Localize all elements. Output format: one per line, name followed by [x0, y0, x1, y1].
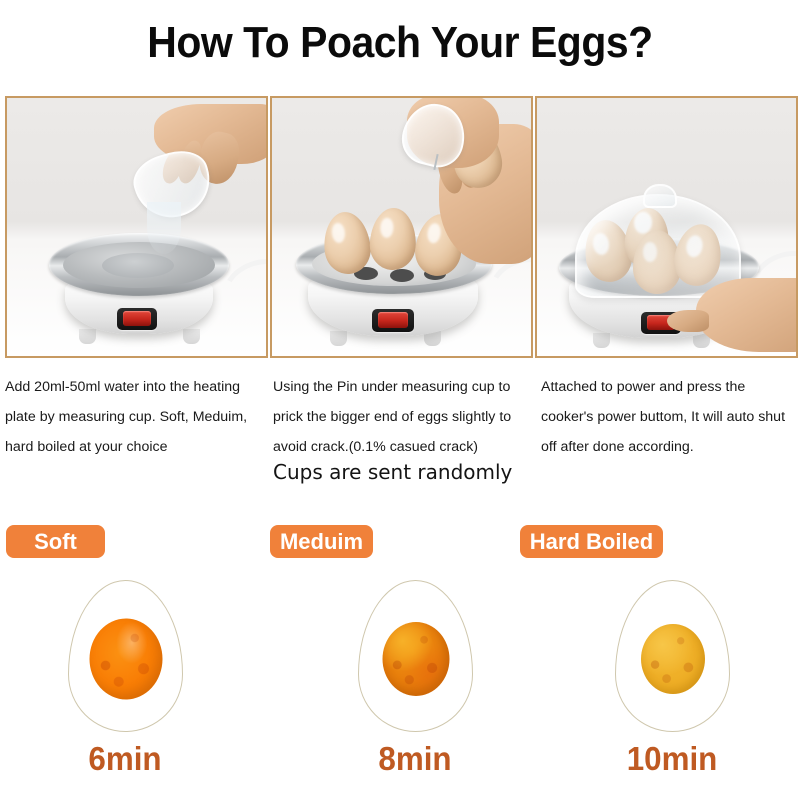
doneness-badge-medium: Meduim — [270, 525, 373, 558]
photo-pouring-water — [7, 98, 266, 356]
finger-index-pressing — [667, 310, 709, 332]
step-caption-3: Attached to power and press the cooker's… — [541, 372, 799, 462]
step-photo-3 — [535, 96, 798, 358]
heating-plate-center — [102, 253, 174, 278]
cooker-foot-left — [79, 329, 96, 344]
doneness-badge-hard: Hard Boiled — [520, 525, 663, 558]
yolk-hard — [641, 624, 705, 694]
photo-pricking-egg — [272, 98, 531, 356]
cut-egg-hard — [615, 580, 730, 732]
cook-time-hard: 10min — [587, 740, 758, 778]
yolk-texture — [382, 622, 449, 696]
cook-time-soft: 6min — [40, 740, 211, 778]
cut-egg-medium — [358, 580, 473, 732]
power-switch-red — [378, 312, 408, 328]
infographic-page: How To Poach Your Eggs? — [0, 0, 800, 800]
cups-randomly-note: Cups are sent randomly — [273, 459, 512, 485]
step-caption-1: Add 20ml-50ml water into the heating pla… — [5, 372, 273, 462]
doneness-badge-soft: Soft — [6, 525, 105, 558]
photo-pressing-power — [537, 98, 796, 356]
dome-lid-knob — [643, 184, 677, 208]
cooker-foot-left — [330, 331, 347, 346]
step-caption-2: Using the Pin under measuring cup to pri… — [273, 372, 535, 462]
step-photo-2 — [270, 96, 533, 358]
cooker-foot-right — [183, 329, 200, 344]
cooker-foot-left — [593, 333, 610, 348]
tray-hole-2 — [390, 269, 414, 282]
power-switch-red — [123, 311, 151, 326]
yolk-medium — [382, 622, 449, 696]
yolk-texture — [641, 624, 705, 694]
page-title: How To Poach Your Eggs? — [28, 17, 772, 69]
egg-highlight — [426, 222, 442, 244]
yolk-texture — [89, 619, 162, 700]
water-stream — [147, 202, 181, 254]
cook-time-medium: 8min — [330, 740, 501, 778]
egg-highlight — [331, 222, 346, 243]
egg-highlight — [380, 218, 394, 238]
cut-egg-soft — [68, 580, 183, 732]
yolk-soft — [89, 619, 162, 700]
step-photo-1 — [5, 96, 268, 358]
